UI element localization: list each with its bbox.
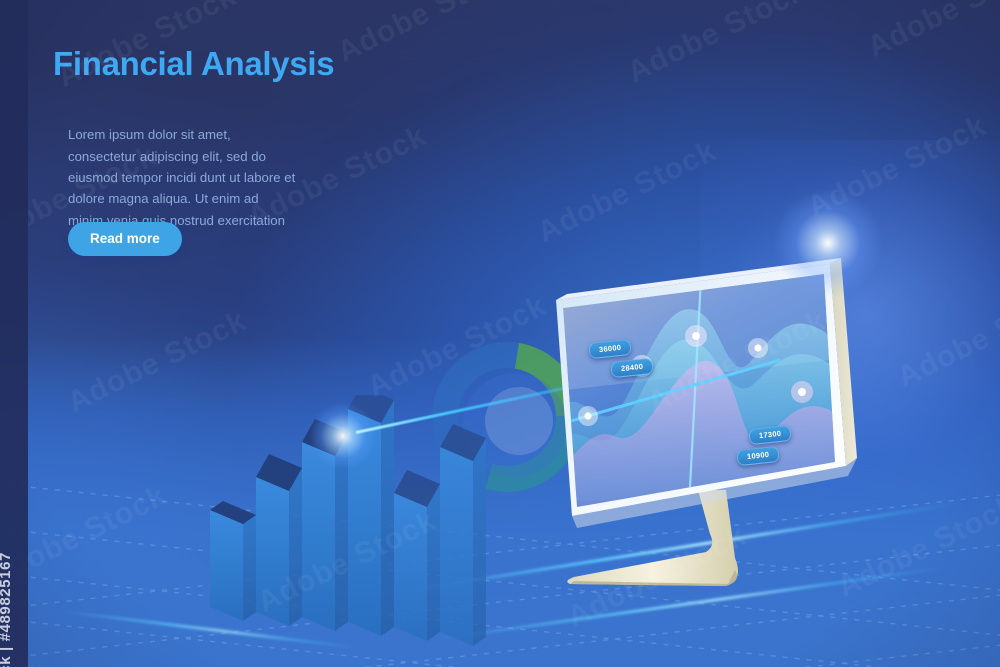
hero-body-text: Lorem ipsum dolor sit amet, consectetur … xyxy=(68,124,296,231)
hero-copy: Financial Analysis Lorem ipsum dolor sit… xyxy=(53,46,393,231)
stock-watermark-rail: Adobe Stock | #489825167 xyxy=(0,0,28,667)
illustration-canvas: 36000 28400 17300 10900 Financial Analys… xyxy=(0,0,1000,667)
stock-watermark-label: Adobe Stock | #489825167 xyxy=(0,552,14,667)
page-title: Financial Analysis xyxy=(53,46,393,82)
read-more-button[interactable]: Read more xyxy=(68,222,182,256)
